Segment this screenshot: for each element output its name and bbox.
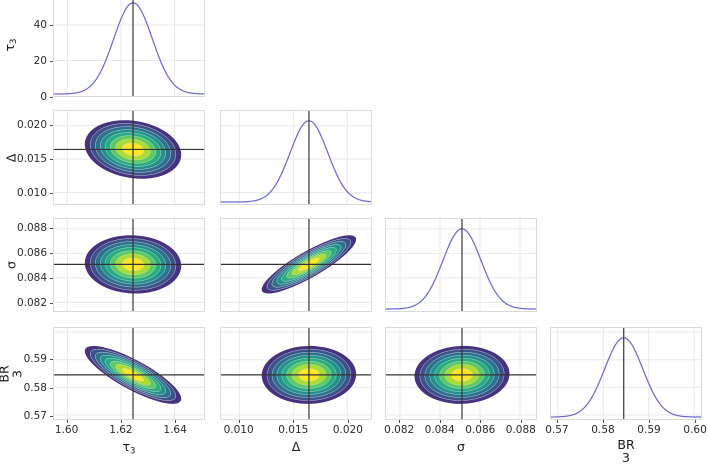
y-tick-label-br3: 0.58 <box>0 382 47 393</box>
y-tickmark <box>50 61 53 62</box>
joint-panel-tau3-vs-sigma <box>53 218 205 312</box>
y-tickmark <box>50 228 53 229</box>
x-tick-label-delta: 0.010 <box>224 425 254 436</box>
marginal-panel-sigma <box>385 218 537 312</box>
x-tickmark <box>603 420 604 423</box>
x-axis-title-delta: Δ <box>292 440 301 453</box>
y-tickmark <box>50 303 53 304</box>
x-tickmark <box>649 420 650 423</box>
y-tick-label-delta: 0.010 <box>0 188 47 199</box>
y-axis-title-delta: Δ <box>4 153 17 162</box>
y-tick-label-sigma: 0.082 <box>0 298 47 309</box>
x-tick-label-tau3: 1.60 <box>55 425 78 436</box>
x-tickmark <box>175 420 176 423</box>
y-tickmark <box>50 388 53 389</box>
joint-panel-delta-vs-br3 <box>220 327 372 420</box>
x-tick-label-br3: 0.57 <box>545 425 568 436</box>
x-tickmark <box>557 420 558 423</box>
x-tick-label-tau3: 1.62 <box>109 425 132 436</box>
y-tick-label-br3: 0.57 <box>0 411 47 422</box>
x-axis-title-sigma: σ <box>457 440 465 453</box>
x-tickmark <box>293 420 294 423</box>
x-tick-label-delta: 0.020 <box>333 425 363 436</box>
x-tickmark <box>121 420 122 423</box>
y-tick-label-br3: 0.59 <box>0 354 47 365</box>
x-tickmark <box>480 420 481 423</box>
x-tick-label-sigma: 0.084 <box>425 425 455 436</box>
y-tickmark <box>50 253 53 254</box>
x-tickmark <box>695 420 696 423</box>
y-axis-title-sigma: σ <box>4 261 17 269</box>
y-tick-label-delta: 0.020 <box>0 120 47 131</box>
joint-panel-delta-vs-sigma <box>220 218 372 312</box>
y-axis-title-br3: BR3 <box>0 365 24 382</box>
x-tick-label-sigma: 0.088 <box>506 425 536 436</box>
joint-panel-sigma-vs-br3 <box>385 327 537 420</box>
y-tickmark <box>50 125 53 126</box>
y-tick-label-sigma: 0.086 <box>0 248 47 259</box>
x-axis-title-tau3: τ3 <box>123 440 136 456</box>
y-tickmark <box>50 359 53 360</box>
x-tickmark <box>67 420 68 423</box>
joint-panel-tau3-vs-br3 <box>53 327 205 420</box>
y-tick-label-sigma: 0.084 <box>0 273 47 284</box>
x-tickmark <box>399 420 400 423</box>
corner-plot-figure: 1.601.621.64τ30.0100.0150.020Δ0.0820.084… <box>0 0 708 470</box>
x-tick-label-sigma: 0.086 <box>465 425 495 436</box>
y-axis-title-tau3: τ3 <box>3 38 19 51</box>
marginal-panel-tau3 <box>53 0 205 97</box>
y-tickmark <box>50 25 53 26</box>
marginal-panel-br3 <box>550 327 702 420</box>
y-tickmark <box>50 278 53 279</box>
y-tick-label-tau3: 40 <box>0 19 47 30</box>
x-tick-label-tau3: 1.64 <box>163 425 186 436</box>
x-tick-label-delta: 0.015 <box>278 425 308 436</box>
y-tick-label-tau3: 0 <box>0 92 47 103</box>
marginal-panel-delta <box>220 110 372 205</box>
x-tick-label-br3: 0.60 <box>683 425 706 436</box>
x-tickmark <box>521 420 522 423</box>
x-tick-label-br3: 0.59 <box>637 425 660 436</box>
y-tick-label-sigma: 0.088 <box>0 223 47 234</box>
y-tickmark <box>50 159 53 160</box>
x-axis-title-br3: BR3 <box>617 439 634 464</box>
x-tickmark <box>239 420 240 423</box>
x-tick-label-sigma: 0.082 <box>384 425 414 436</box>
joint-panel-tau3-vs-delta <box>53 110 205 205</box>
y-tickmark <box>50 97 53 98</box>
x-tick-label-br3: 0.58 <box>591 425 614 436</box>
y-tick-label-tau3: 20 <box>0 56 47 67</box>
y-tickmark <box>50 193 53 194</box>
x-tickmark <box>440 420 441 423</box>
y-tickmark <box>50 416 53 417</box>
x-tickmark <box>348 420 349 423</box>
